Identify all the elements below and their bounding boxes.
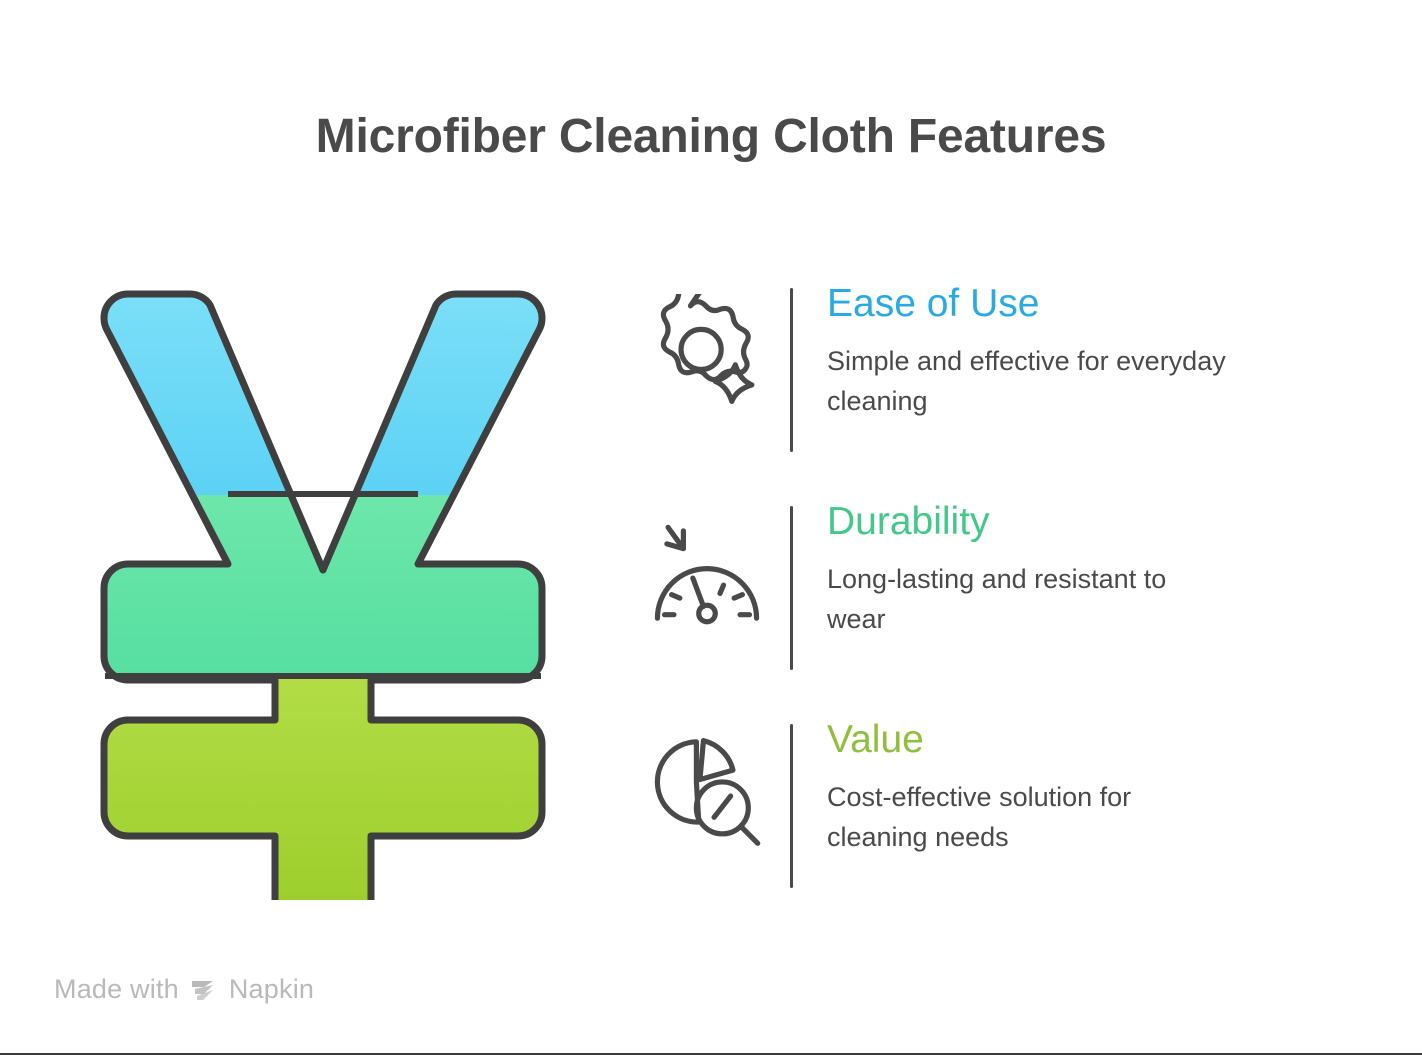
feature-heading: Ease of Use xyxy=(827,282,1288,326)
feature-item-ease-of-use[interactable]: Ease of Use Simple and effective for eve… xyxy=(648,280,1288,460)
gauge-arrow-icon xyxy=(648,512,766,630)
pie-chart-magnifier-icon xyxy=(648,730,766,848)
watermark-prefix: Made with xyxy=(54,974,179,1005)
feature-heading: Value xyxy=(827,718,1288,762)
yen-glyph-shape xyxy=(104,294,542,900)
feature-description: Long-lasting and resistant to wear xyxy=(827,560,1227,640)
watermark: Made with Napkin xyxy=(54,974,314,1005)
feature-text: Ease of Use Simple and effective for eve… xyxy=(793,280,1288,422)
feature-description: Simple and effective for everyday cleani… xyxy=(827,342,1227,422)
feature-list: Ease of Use Simple and effective for eve… xyxy=(648,280,1288,896)
feature-item-value[interactable]: Value Cost-effective solution for cleani… xyxy=(648,716,1288,896)
feature-text: Value Cost-effective solution for cleani… xyxy=(793,716,1288,858)
slide-canvas: Microfiber Cleaning Cloth Features xyxy=(0,0,1422,1055)
yen-symbol-illustration xyxy=(78,280,568,900)
feature-text: Durability Long-lasting and resistant to… xyxy=(793,498,1288,640)
feature-item-durability[interactable]: Durability Long-lasting and resistant to… xyxy=(648,498,1288,678)
feature-heading: Durability xyxy=(827,500,1288,544)
feature-description: Cost-effective solution for cleaning nee… xyxy=(827,778,1227,858)
page-title: Microfiber Cleaning Cloth Features xyxy=(0,108,1422,166)
gear-sparkle-icon xyxy=(648,294,766,412)
watermark-brand: Napkin xyxy=(229,974,314,1005)
napkin-logo-icon xyxy=(189,975,219,1005)
